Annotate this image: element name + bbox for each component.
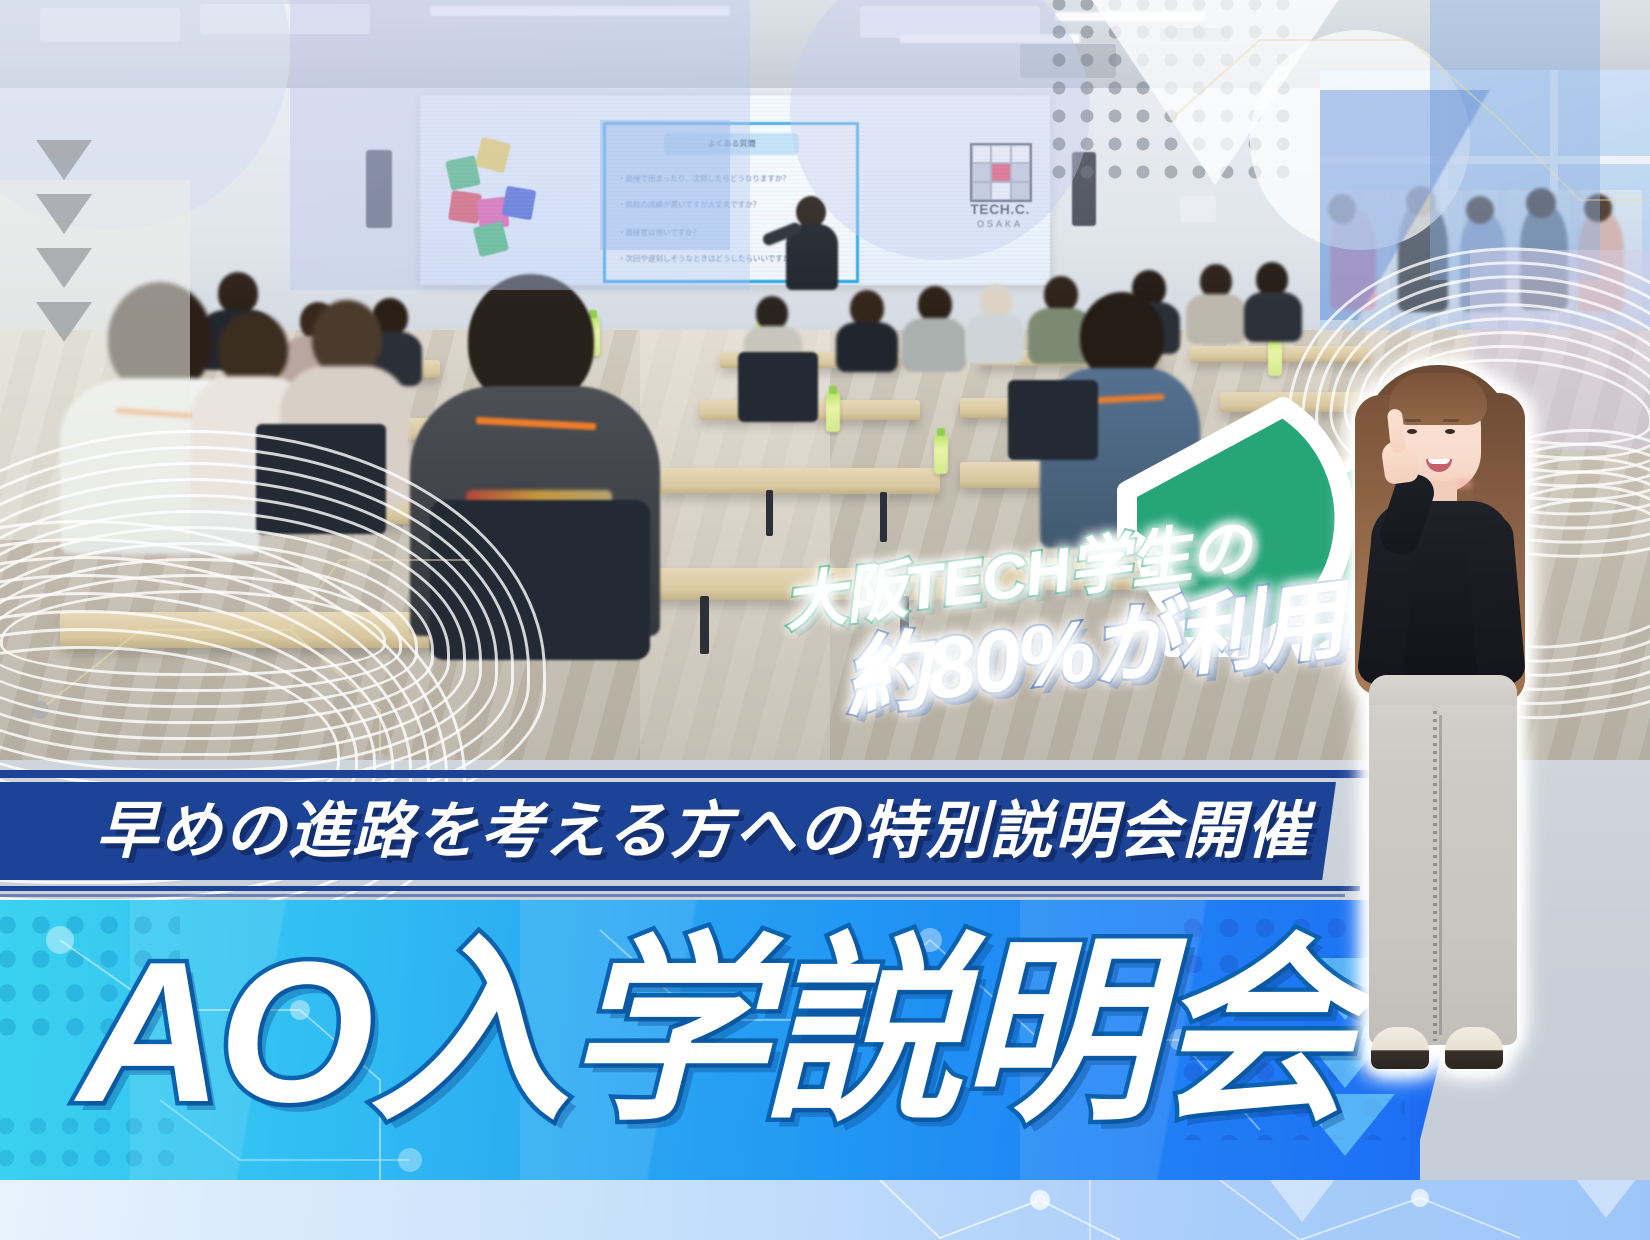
- navy-rule-secondary: [0, 894, 1345, 897]
- model-cheek: [1455, 479, 1473, 489]
- model-waistband: [1369, 675, 1517, 705]
- student-model-cutout: [1325, 355, 1555, 1155]
- network-nodes-icon: [0, 1180, 1650, 1240]
- model-eyebrow: [1443, 419, 1459, 422]
- model-bangs: [1389, 373, 1487, 425]
- triangle-down-icon: [1572, 1180, 1640, 1218]
- model-eye: [1445, 429, 1455, 434]
- model-eyebrow: [1405, 419, 1421, 422]
- navy-rule: [0, 886, 1360, 891]
- model-shoe: [1371, 1027, 1429, 1069]
- triangle-down-icon: [1268, 1180, 1336, 1222]
- model-eye: [1407, 429, 1417, 434]
- navy-strip-top: [0, 770, 1418, 778]
- promo-banner-root: よくある質問 面接で困まったり、沈黙したらどうなりますか？ 高校の成績が悪いです…: [0, 0, 1650, 1240]
- banner-subtitle: 早めの進路を考える方への特別説明会開催: [96, 786, 1310, 878]
- model-shoe: [1445, 1027, 1503, 1069]
- bottom-light-strip: [0, 1180, 1650, 1240]
- model-jean-seam: [1433, 711, 1437, 1041]
- model-jeans: [1369, 675, 1517, 1045]
- page-title: AO入学説明会: [78, 908, 1350, 1158]
